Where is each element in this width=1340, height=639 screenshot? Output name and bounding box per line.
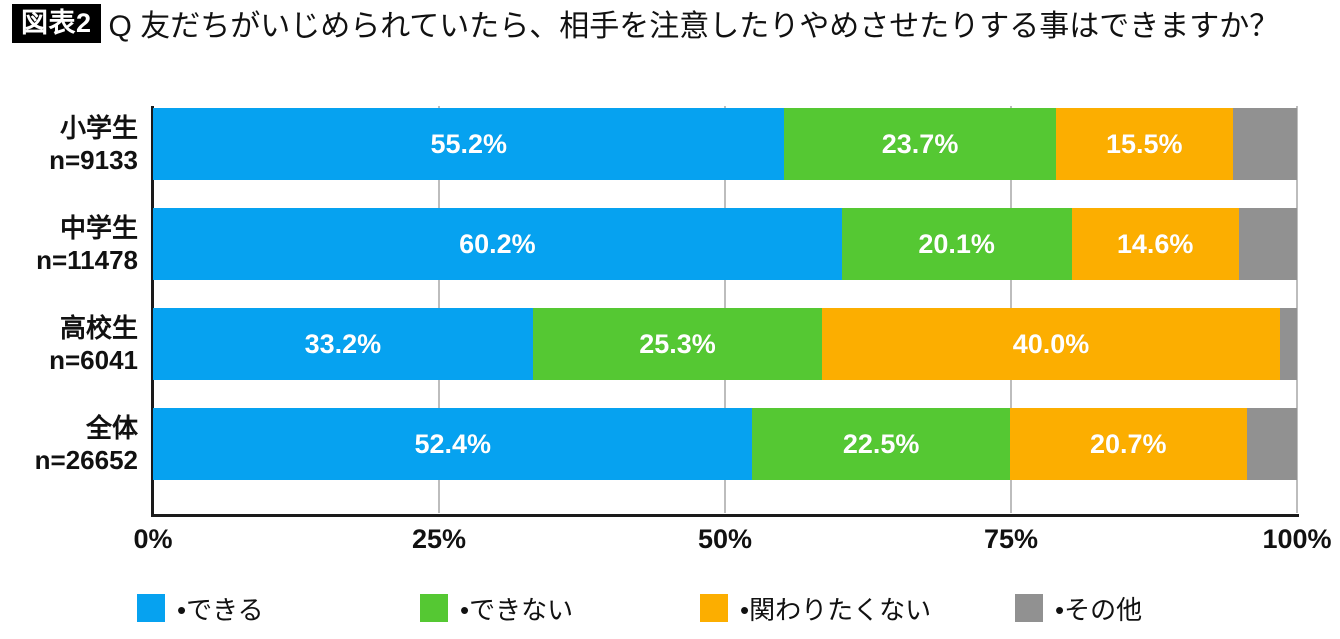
bar-segment-label: 52.4%: [414, 429, 491, 460]
bar-segment-label: 20.1%: [918, 229, 995, 260]
x-axis-tick-label: 50%: [698, 524, 752, 555]
page-title: Q 友だちがいじめられていたら、相手を注意したりやめさせたりする事はできますか？: [109, 10, 1280, 43]
bar-segment[interactable]: 23.7%: [784, 108, 1055, 180]
category-sample-size: n=9133: [0, 144, 138, 176]
category-sample-size: n=6041: [0, 344, 138, 376]
y-axis-label-4: 全体n=26652: [0, 412, 138, 476]
chart-row: 55.2%23.7%15.5%: [153, 108, 1297, 180]
chart-row: 33.2%25.3%40.0%: [153, 308, 1297, 380]
bar-segment-label: 40.0%: [1013, 329, 1090, 360]
bar-segment[interactable]: 15.5%: [1056, 108, 1233, 180]
legend-label: •できる: [177, 590, 264, 627]
chart-title-block: 図表2Q 友だちがいじめられていたら、相手を注意したりやめさせたりする事はできま…: [12, 4, 1332, 48]
category-name: 高校生: [0, 312, 138, 344]
y-axis-label-2: 中学生n=11478: [0, 212, 138, 276]
bar-segment[interactable]: 20.7%: [1010, 408, 1247, 480]
category-sample-size: n=26652: [0, 444, 138, 476]
category-name: 小学生: [0, 112, 138, 144]
bar-segment-label: 15.5%: [1106, 129, 1183, 160]
bar-segment-label: 23.7%: [882, 129, 959, 160]
chart-legend: •できる•できない•関わりたくない•その他: [0, 588, 1340, 634]
bar-segment[interactable]: [1239, 208, 1297, 280]
bar-segment[interactable]: 40.0%: [822, 308, 1280, 380]
legend-label: •できない: [460, 590, 573, 627]
legend-label: •その他: [1055, 590, 1142, 627]
legend-color-swatch: [1015, 594, 1043, 622]
plot-area: 55.2%23.7%15.5%60.2%20.1%14.6%33.2%25.3%…: [153, 108, 1297, 515]
legend-item[interactable]: •できる: [137, 588, 264, 628]
x-axis-tick-label: 75%: [984, 524, 1038, 555]
bar-segment-label: 25.3%: [639, 329, 716, 360]
legend-color-swatch: [700, 594, 728, 622]
figure-number-badge: 図表2: [12, 4, 101, 43]
stacked-bar-chart: 55.2%23.7%15.5%60.2%20.1%14.6%33.2%25.3%…: [0, 100, 1340, 530]
legend-color-swatch: [137, 594, 165, 622]
bar-segment-label: 55.2%: [430, 129, 507, 160]
x-axis-tick-label: 100%: [1262, 524, 1331, 555]
chart-row: 52.4%22.5%20.7%: [153, 408, 1297, 480]
legend-item[interactable]: •その他: [1015, 588, 1142, 628]
category-sample-size: n=11478: [0, 244, 138, 276]
bar-segment[interactable]: 14.6%: [1072, 208, 1239, 280]
bar-segment[interactable]: 22.5%: [752, 408, 1009, 480]
chart-row: 60.2%20.1%14.6%: [153, 208, 1297, 280]
bar-segment-label: 60.2%: [459, 229, 536, 260]
bar-segment[interactable]: 55.2%: [153, 108, 784, 180]
bar-segment[interactable]: 60.2%: [153, 208, 842, 280]
legend-item[interactable]: •関わりたくない: [700, 588, 931, 628]
title-line: 図表2Q 友だちがいじめられていたら、相手を注意したりやめさせたりする事はできま…: [12, 4, 1332, 48]
bar-segment-label: 14.6%: [1117, 229, 1194, 260]
x-axis-tick-label: 25%: [412, 524, 466, 555]
bar-segment[interactable]: 20.1%: [842, 208, 1072, 280]
y-axis-label-3: 高校生n=6041: [0, 312, 138, 376]
bar-segment[interactable]: [1247, 408, 1297, 480]
legend-item[interactable]: •できない: [420, 588, 573, 628]
bar-segment[interactable]: [1233, 108, 1297, 180]
x-axis-tick-label: 0%: [133, 524, 172, 555]
category-name: 全体: [0, 412, 138, 444]
bar-segment-label: 22.5%: [843, 429, 920, 460]
bar-segment-label: 20.7%: [1090, 429, 1167, 460]
y-axis-label-1: 小学生n=9133: [0, 112, 138, 176]
bar-segment[interactable]: [1280, 308, 1297, 380]
bar-segment-label: 33.2%: [305, 329, 382, 360]
legend-color-swatch: [420, 594, 448, 622]
bar-segment[interactable]: 33.2%: [153, 308, 533, 380]
legend-label: •関わりたくない: [740, 590, 931, 627]
bar-segment[interactable]: 52.4%: [153, 408, 752, 480]
bar-segment[interactable]: 25.3%: [533, 308, 822, 380]
category-name: 中学生: [0, 212, 138, 244]
